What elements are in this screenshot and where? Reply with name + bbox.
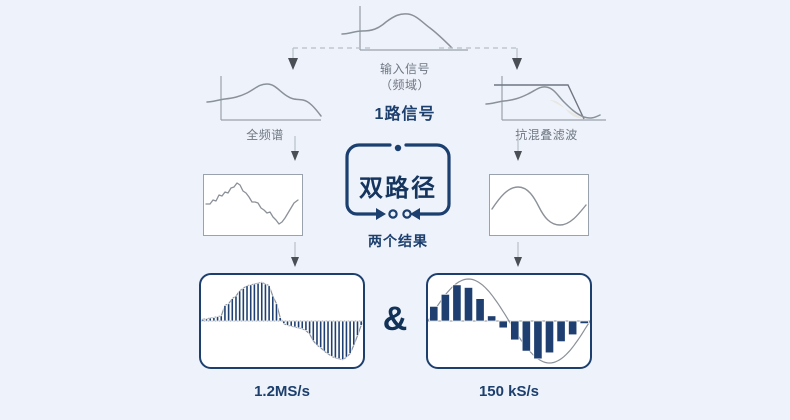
sample-bar xyxy=(430,306,438,321)
badge-arrow-right-icon xyxy=(376,208,386,220)
sample-bar xyxy=(205,319,207,321)
full-spectrum-chart xyxy=(205,72,325,128)
branch-arrow-right-icon xyxy=(512,58,522,70)
sample-bar xyxy=(312,321,314,341)
sample-bar xyxy=(464,287,472,321)
sample-bar xyxy=(334,321,336,358)
sample-bar xyxy=(279,318,281,321)
sample-bar xyxy=(220,316,222,321)
sample-bar xyxy=(224,306,226,321)
sample-bar xyxy=(290,321,292,326)
high-rate-label: 1.2MS/s xyxy=(199,383,365,400)
sample-bar xyxy=(227,304,229,321)
sample-bar xyxy=(349,321,351,354)
sample-bar xyxy=(342,321,344,360)
sample-bar xyxy=(242,288,244,321)
low-rate-waveform-plot xyxy=(428,275,590,367)
result-dot-left-icon xyxy=(389,210,396,217)
sample-bar xyxy=(323,321,325,351)
two-results-label: 两个结果 xyxy=(335,231,461,251)
sample-bar xyxy=(268,286,270,321)
filtered-sine-box xyxy=(489,174,589,236)
sample-bar xyxy=(286,321,288,325)
channel-count-label: 1路信号 xyxy=(335,100,475,124)
input-signal-label-line2: （频域） xyxy=(335,78,475,93)
connector-right-lower xyxy=(511,242,525,270)
connector-left-lower xyxy=(288,242,302,270)
sample-bar xyxy=(235,296,237,321)
sample-bar xyxy=(338,321,340,359)
diagram-canvas: 输入信号 （频域） 1路信号 全频谱 抗混叠滤波 xyxy=(0,0,790,420)
sample-bar xyxy=(283,321,285,324)
sample-bar xyxy=(257,283,259,321)
full-spectrum-plot xyxy=(205,72,325,128)
wideband-trace-plot xyxy=(204,175,302,235)
sample-bar xyxy=(353,321,355,345)
sample-bar xyxy=(320,321,322,348)
dual-path-label: 双路径 xyxy=(344,168,452,203)
anti-aliasing-plot xyxy=(484,72,609,128)
sample-bar xyxy=(580,321,588,324)
dual-path-badge: 双路径 xyxy=(344,142,452,240)
sample-bar xyxy=(202,319,204,321)
sample-bar xyxy=(356,321,358,336)
connector-right-upper xyxy=(511,136,525,164)
wideband-trace-box xyxy=(203,174,303,236)
sample-bar xyxy=(316,321,318,345)
branch-connector-lines xyxy=(285,38,525,76)
sample-bar xyxy=(453,285,461,321)
sample-bar xyxy=(331,321,333,356)
sample-bar xyxy=(441,294,449,321)
high-rate-waveform-plot xyxy=(201,275,363,367)
sample-bar xyxy=(246,286,248,321)
sample-bar xyxy=(511,321,519,340)
sample-bar xyxy=(308,321,310,334)
high-rate-result-box xyxy=(199,273,365,369)
sample-bar xyxy=(476,299,484,321)
low-rate-result-box xyxy=(426,273,592,369)
sample-bar xyxy=(275,304,277,321)
sample-bar xyxy=(253,284,255,321)
sample-bar xyxy=(487,316,495,321)
connector-left-upper xyxy=(288,136,302,164)
sample-bar xyxy=(297,321,299,328)
sample-bar xyxy=(522,321,530,351)
full-spectrum-label: 全频谱 xyxy=(205,128,325,143)
result-dot-right-icon xyxy=(403,210,410,217)
sample-bar xyxy=(345,321,347,357)
sample-bar xyxy=(360,321,362,325)
low-rate-label: 150 kS/s xyxy=(426,383,592,400)
connector-left-upper-arrow-icon xyxy=(288,136,302,164)
sample-bar xyxy=(250,285,252,321)
sample-bar xyxy=(216,317,218,321)
sample-bar xyxy=(301,321,303,329)
sample-bar xyxy=(327,321,329,354)
sample-bar xyxy=(231,299,233,321)
sample-bar xyxy=(534,321,542,359)
sample-bar xyxy=(209,318,211,321)
sample-bar xyxy=(213,318,215,321)
sample-bar xyxy=(499,321,507,328)
sample-bar xyxy=(545,321,553,353)
anti-aliasing-chart xyxy=(484,72,609,128)
branch-arrow-left-icon xyxy=(288,58,298,70)
connector-right-upper-arrow-icon xyxy=(511,136,525,164)
sample-bar xyxy=(557,321,565,342)
badge-top-dot-icon xyxy=(395,145,401,151)
sample-bar xyxy=(294,321,296,327)
sample-bar xyxy=(261,282,263,321)
sample-bar xyxy=(568,321,576,335)
anti-aliasing-label: 抗混叠滤波 xyxy=(479,128,614,143)
filtered-sine-plot xyxy=(490,175,588,235)
sample-bar xyxy=(239,291,241,321)
sample-bar xyxy=(272,296,274,321)
connector-right-lower-arrow-icon xyxy=(511,242,525,270)
sample-bar xyxy=(264,284,266,321)
sample-bar xyxy=(305,321,307,330)
ampersand-separator: & xyxy=(374,302,416,336)
connector-left-lower-arrow-icon xyxy=(288,242,302,270)
branch-connectors xyxy=(285,38,525,76)
